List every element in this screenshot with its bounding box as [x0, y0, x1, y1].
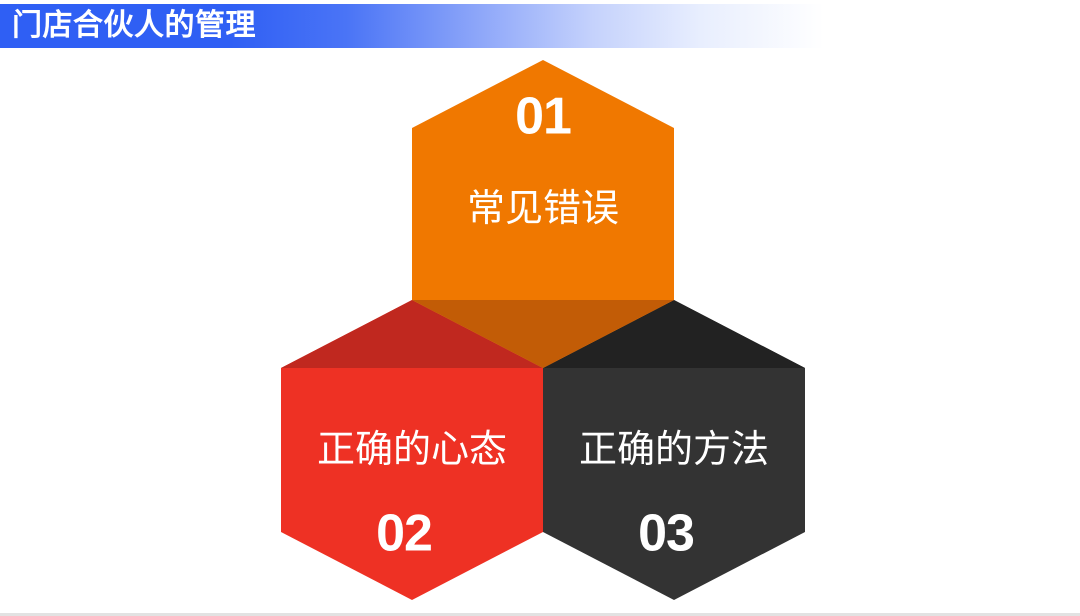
hexagon-diagram: 01 常见错误 正确的心态 02 正确的方法 03 [0, 0, 1080, 616]
hexagon-node-02-number: 02 [376, 505, 432, 563]
hexagon-node-02-label: 正确的心态 [317, 429, 507, 471]
hexagon-node-03-label: 正确的方法 [579, 429, 769, 471]
hexagon-node-03-number: 03 [638, 505, 694, 563]
hexagon-node-01-label: 常见错误 [467, 188, 619, 230]
slide: 门店合伙人的管理 01 常见错误 [0, 0, 1080, 616]
hexagon-node-01-number: 01 [515, 88, 571, 146]
